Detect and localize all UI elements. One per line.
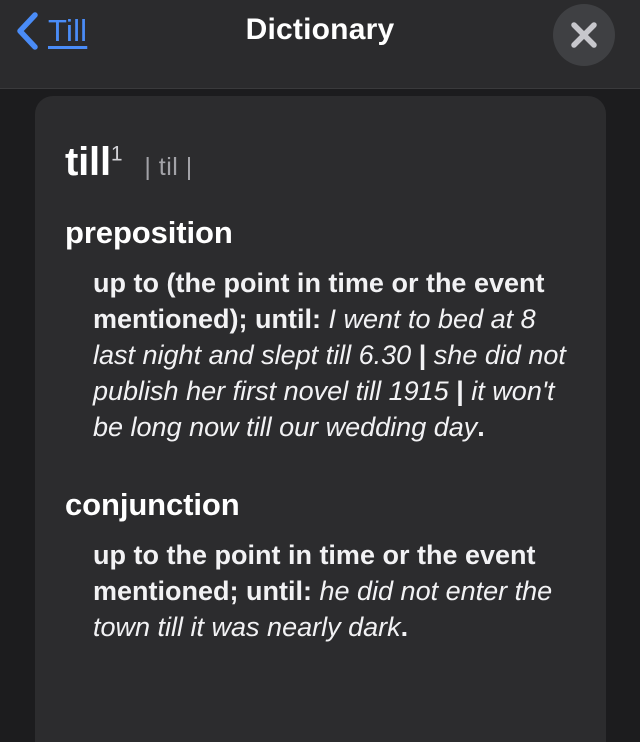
entry-card[interactable]: till1 | til | preposition up to (the poi…	[35, 96, 606, 742]
dictionary-popover: Till Dictionary till1 | til | prepos	[0, 0, 640, 742]
definition: up to (the point in time or the event me…	[93, 265, 576, 445]
definition-terminator: .	[401, 612, 409, 642]
homograph-number: 1	[111, 143, 122, 166]
part-of-speech: conjunction	[65, 487, 576, 523]
example-separator: |	[456, 376, 464, 406]
headword-row: till1 | til |	[65, 140, 576, 185]
definition-terminator: .	[477, 412, 485, 442]
close-icon[interactable]	[567, 18, 601, 52]
sense-block: conjunction up to the point in time or t…	[65, 487, 576, 645]
header-bar: Till Dictionary	[0, 0, 640, 89]
example-separator: |	[419, 340, 427, 370]
page-title: Dictionary	[0, 13, 640, 47]
headword: till1	[65, 140, 122, 185]
definition: up to the point in time or the event men…	[93, 537, 576, 645]
part-of-speech: preposition	[65, 215, 576, 251]
pronunciation: | til |	[144, 153, 192, 182]
dictionary-entry: till1 | til | preposition up to (the poi…	[35, 96, 606, 645]
sense-block: preposition up to (the point in time or …	[65, 215, 576, 445]
headword-text: till	[65, 140, 111, 184]
close-button[interactable]	[553, 4, 615, 66]
